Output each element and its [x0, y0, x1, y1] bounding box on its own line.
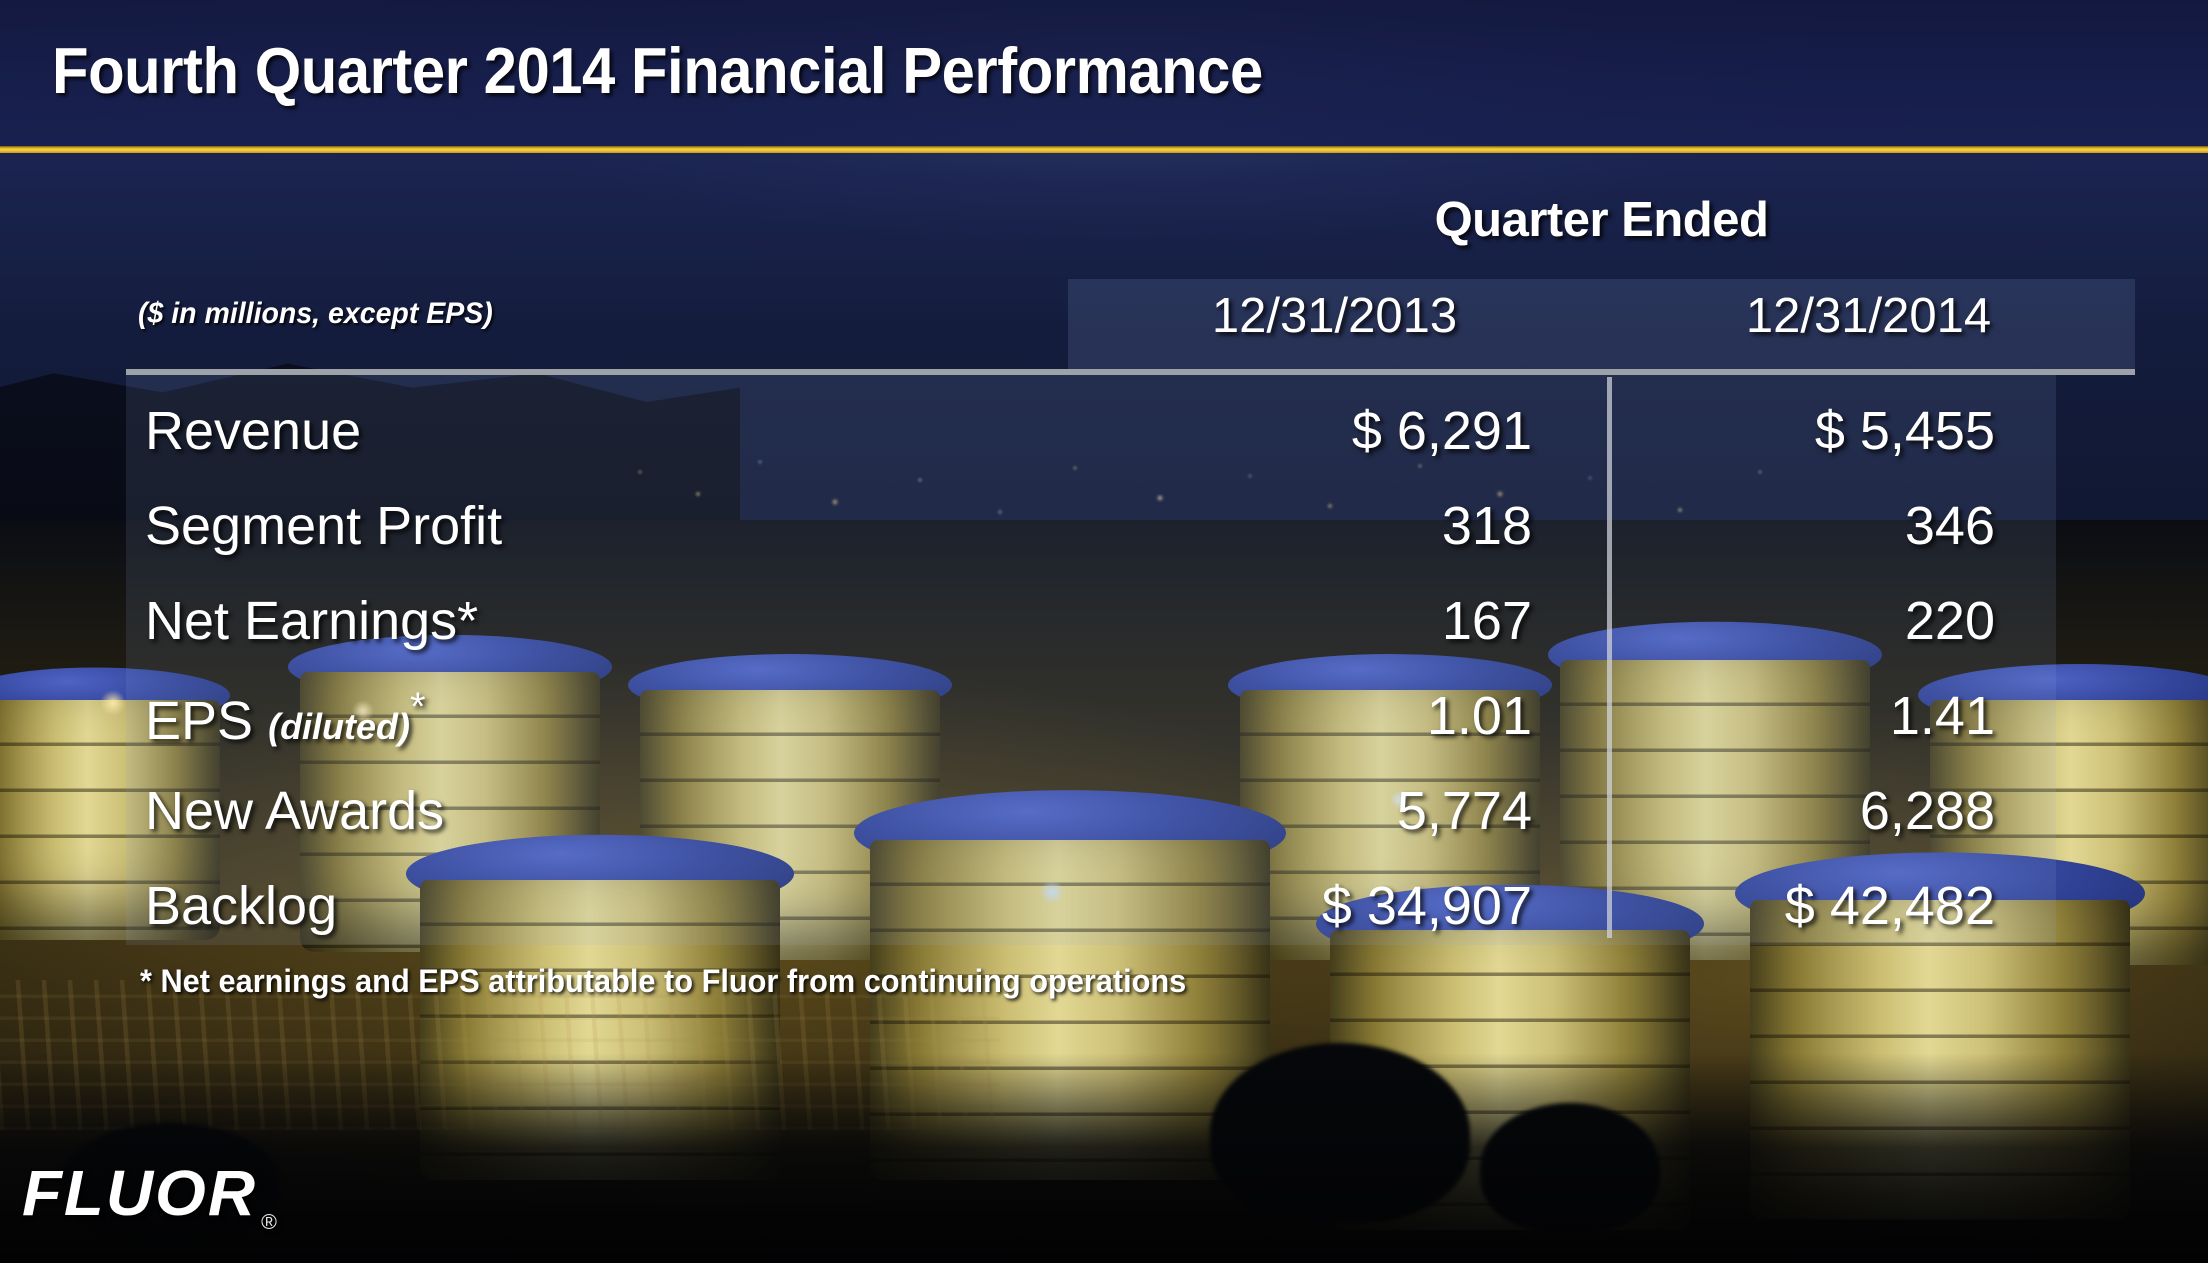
units-note: ($ in millions, except EPS) [138, 297, 493, 331]
gold-divider-rule [0, 146, 2208, 153]
column-header-2013: 12/31/2013 [1068, 288, 1601, 344]
table-cell-2013: $ 6,291 [1000, 400, 1532, 462]
table-cell-2013: 318 [1000, 495, 1532, 557]
table-cell-2014: $ 42,482 [1460, 875, 1995, 937]
page-title: Fourth Quarter 2014 Financial Performanc… [52, 38, 1263, 103]
table-row-label: Backlog [145, 875, 337, 937]
table-row-label: New Awards [145, 780, 444, 842]
foreground-shadow [0, 1053, 2208, 1263]
table-row-label: Net Earnings* [145, 590, 478, 652]
table-cell-2014: 1.41 [1460, 685, 1995, 747]
table-cell-2013: 5,774 [1000, 780, 1532, 842]
fluor-logo: FLUOR® [22, 1156, 279, 1235]
table-row-label: Revenue [145, 400, 361, 462]
light-flare [100, 690, 126, 716]
row-label-text: Backlog [145, 876, 337, 936]
footnote-asterisk: * [410, 685, 426, 729]
table-cell-2014: 220 [1460, 590, 1995, 652]
registered-trademark-icon: ® [261, 1211, 279, 1234]
footnote-asterisk: * [457, 591, 478, 651]
slide-root: Fourth Quarter 2014 Financial Performanc… [0, 0, 2208, 1263]
row-label-text: Segment Profit [145, 496, 502, 556]
table-footnote: * Net earnings and EPS attributable to F… [140, 963, 1186, 1000]
row-label-text: Net Earnings [145, 591, 457, 651]
row-label-text: Revenue [145, 401, 361, 461]
table-cell-2013: $ 34,907 [1000, 875, 1532, 937]
table-cell-2014: 346 [1460, 495, 1995, 557]
table-cell-2013: 1.01 [1000, 685, 1532, 747]
row-label-qualifier: (diluted) [268, 706, 410, 747]
fluor-wordmark: FLUOR [22, 1157, 257, 1229]
table-cell-2014: $ 5,455 [1460, 400, 1995, 462]
table-cell-2013: 167 [1000, 590, 1532, 652]
table-row-label: EPS (diluted)* [145, 685, 426, 752]
column-header-2014: 12/31/2014 [1602, 288, 2135, 344]
table-row-label: Segment Profit [145, 495, 502, 557]
row-label-text: EPS [145, 691, 253, 751]
row-label-text: New Awards [145, 781, 444, 841]
column-group-header: Quarter Ended [1068, 192, 2135, 248]
table-cell-2014: 6,288 [1460, 780, 1995, 842]
